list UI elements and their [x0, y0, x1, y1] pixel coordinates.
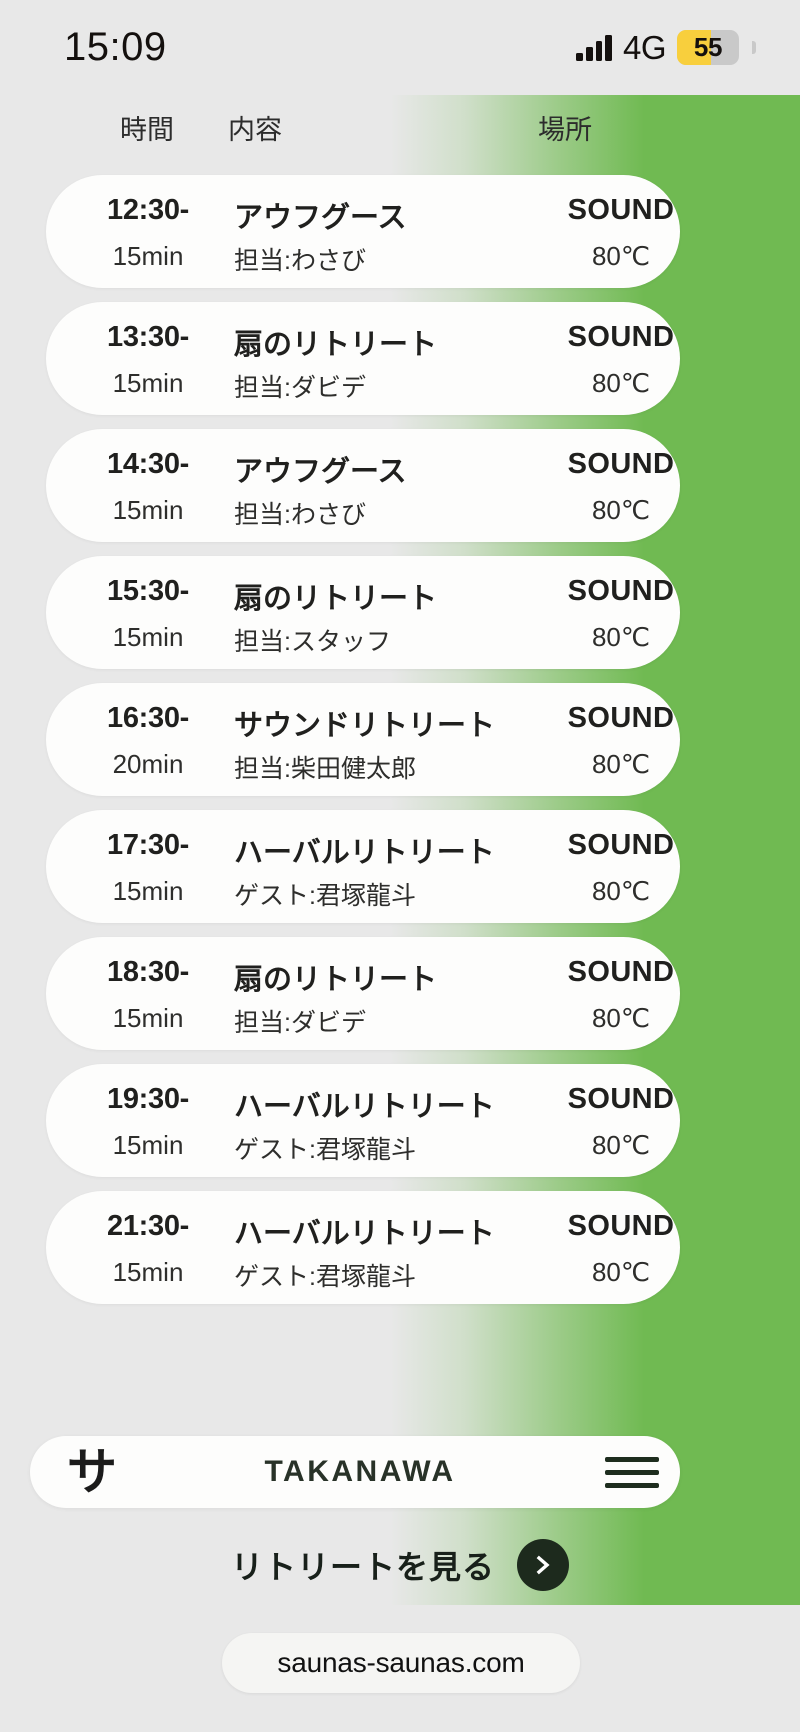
- schedule-temp: 80℃: [566, 876, 676, 907]
- schedule-staff: 担当:わさび: [234, 495, 366, 531]
- schedule-temp: 80℃: [566, 368, 676, 399]
- column-headers: 時間 内容 場所: [0, 108, 800, 164]
- schedule-temp: 80℃: [566, 495, 676, 526]
- status-bar: 15:09 4G 55: [0, 0, 800, 95]
- schedule-place: SOUND: [566, 1083, 676, 1116]
- schedule-title: ハーバルリトリート: [234, 1083, 495, 1125]
- view-retreat-label: リトリートを見る: [231, 1542, 495, 1588]
- schedule-duration: 15min: [113, 495, 184, 526]
- battery-nub-icon: [752, 41, 756, 54]
- schedule-duration: 15min: [113, 1257, 184, 1288]
- schedule-time: 18:30-: [107, 956, 189, 989]
- schedule-place: SOUND: [566, 956, 676, 989]
- schedule-title: 扇のリトリート: [234, 321, 437, 363]
- schedule-temp: 80℃: [566, 749, 676, 780]
- schedule-place: SOUND: [566, 702, 676, 735]
- schedule-staff: 担当:わさび: [234, 241, 366, 277]
- column-header-place: 場所: [538, 108, 592, 147]
- schedule-staff: ゲスト:君塚龍斗: [234, 1257, 416, 1293]
- schedule-card[interactable]: 15:30-扇のリトリートSOUND15min担当:スタッフ80℃: [46, 556, 680, 669]
- schedule-duration: 15min: [113, 622, 184, 653]
- schedule-staff: 担当:柴田健太郎: [234, 749, 416, 785]
- schedule-temp: 80℃: [566, 1130, 676, 1161]
- schedule-card[interactable]: 21:30-ハーバルリトリートSOUND15minゲスト:君塚龍斗80℃: [46, 1191, 680, 1304]
- schedule-card[interactable]: 16:30-サウンドリトリートSOUND20min担当:柴田健太郎80℃: [46, 683, 680, 796]
- schedule-title: ハーバルリトリート: [234, 1210, 495, 1252]
- schedule-staff: ゲスト:君塚龍斗: [234, 1130, 416, 1166]
- schedule-time: 19:30-: [107, 1083, 189, 1116]
- schedule-title: アウフグース: [234, 448, 407, 490]
- schedule-staff: 担当:ダビデ: [234, 368, 366, 404]
- network-type-label: 4G: [623, 29, 666, 67]
- schedule-temp: 80℃: [566, 1257, 676, 1288]
- schedule-time: 16:30-: [107, 702, 189, 735]
- schedule-duration: 15min: [113, 241, 184, 272]
- chevron-right-circle-icon[interactable]: [517, 1539, 569, 1591]
- schedule-duration: 20min: [113, 749, 184, 780]
- brand-name-label: TAKANAWA: [136, 1455, 584, 1489]
- schedule-time: 21:30-: [107, 1210, 189, 1243]
- schedule-card[interactable]: 18:30-扇のリトリートSOUND15min担当:ダビデ80℃: [46, 937, 680, 1050]
- schedule-time: 14:30-: [107, 448, 189, 481]
- schedule-title: 扇のリトリート: [234, 575, 437, 617]
- schedule-place: SOUND: [566, 829, 676, 862]
- schedule-title: 扇のリトリート: [234, 956, 437, 998]
- schedule-place: SOUND: [566, 194, 676, 227]
- schedule-card[interactable]: 19:30-ハーバルリトリートSOUND15minゲスト:君塚龍斗80℃: [46, 1064, 680, 1177]
- schedule-duration: 15min: [113, 876, 184, 907]
- battery-indicator: 55: [677, 30, 739, 65]
- schedule-card[interactable]: 13:30-扇のリトリートSOUND15min担当:ダビデ80℃: [46, 302, 680, 415]
- status-indicators: 4G 55: [576, 29, 756, 67]
- schedule-card[interactable]: 12:30-アウフグースSOUND15min担当:わさび80℃: [46, 175, 680, 288]
- schedule-duration: 15min: [113, 1003, 184, 1034]
- schedule-time: 12:30-: [107, 194, 189, 227]
- schedule-title: サウンドリトリート: [234, 702, 495, 744]
- schedule-temp: 80℃: [566, 241, 676, 272]
- schedule-time: 13:30-: [107, 321, 189, 354]
- schedule-staff: ゲスト:君塚龍斗: [234, 876, 416, 912]
- schedule-card[interactable]: 17:30-ハーバルリトリートSOUND15minゲスト:君塚龍斗80℃: [46, 810, 680, 923]
- column-header-time: 時間: [120, 108, 174, 147]
- schedule-title: ハーバルリトリート: [234, 829, 495, 871]
- battery-percent-label: 55: [694, 32, 722, 63]
- column-header-desc: 内容: [228, 108, 282, 147]
- schedule-time: 17:30-: [107, 829, 189, 862]
- hamburger-menu-icon[interactable]: [584, 1457, 680, 1488]
- sa-katakana-logo-icon[interactable]: サ: [48, 1452, 136, 1492]
- schedule-title: アウフグース: [234, 194, 407, 236]
- schedule-duration: 15min: [113, 1130, 184, 1161]
- schedule-card[interactable]: 14:30-アウフグースSOUND15min担当:わさび80℃: [46, 429, 680, 542]
- schedule-place: SOUND: [566, 448, 676, 481]
- schedule-place: SOUND: [566, 1210, 676, 1243]
- schedule-place: SOUND: [566, 575, 676, 608]
- brand-bar[interactable]: サ TAKANAWA: [30, 1436, 680, 1508]
- schedule-list: 12:30-アウフグースSOUND15min担当:わさび80℃13:30-扇のリ…: [0, 175, 800, 1318]
- url-bar[interactable]: saunas-saunas.com: [222, 1633, 580, 1693]
- schedule-staff: 担当:スタッフ: [234, 622, 391, 658]
- schedule-temp: 80℃: [566, 622, 676, 653]
- signal-bars-icon: [576, 35, 612, 61]
- view-retreat-cta[interactable]: リトリートを見る: [0, 1530, 800, 1600]
- schedule-temp: 80℃: [566, 1003, 676, 1034]
- url-text: saunas-saunas.com: [277, 1647, 524, 1679]
- schedule-place: SOUND: [566, 321, 676, 354]
- schedule-time: 15:30-: [107, 575, 189, 608]
- status-clock: 15:09: [64, 25, 167, 70]
- schedule-duration: 15min: [113, 368, 184, 399]
- phone-screen: 15:09 4G 55 時間 内容 場所 12:30-アウフグースSOUND15…: [0, 0, 800, 1732]
- schedule-staff: 担当:ダビデ: [234, 1003, 366, 1039]
